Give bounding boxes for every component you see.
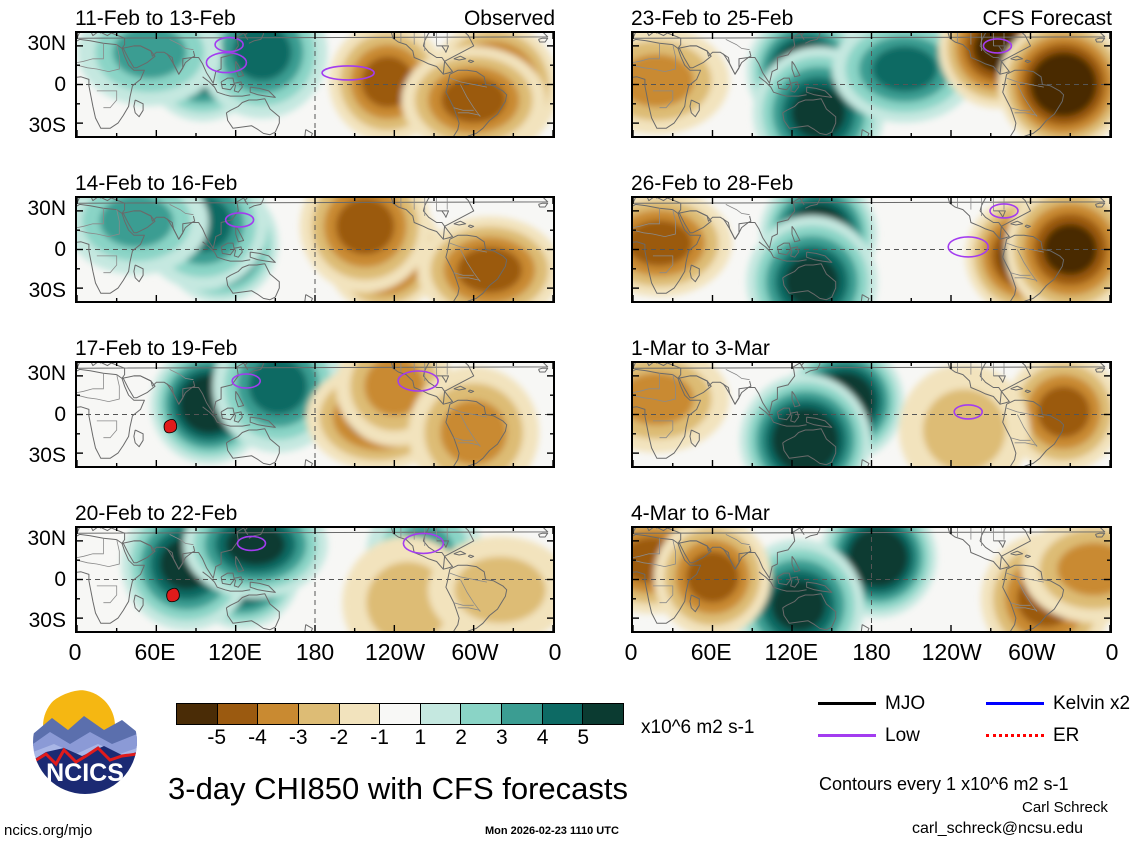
column-tag-cfs-forecast: CFS Forecast	[982, 8, 1112, 29]
legend-label: Low	[885, 726, 920, 745]
colorbar-tick-2: 2	[455, 727, 467, 748]
anomaly-contour-level-6	[855, 536, 900, 579]
x-tick-60e: 60E	[691, 641, 732, 664]
colorbar-bin-6	[421, 704, 462, 724]
low-line-icon	[818, 734, 876, 737]
colorbar-bin-0	[177, 704, 218, 724]
map-svg	[633, 528, 1110, 631]
map-svg	[633, 198, 1110, 301]
y-axis-label-0-row0: 0	[0, 74, 66, 95]
colorbar-tick--1: -1	[370, 727, 389, 748]
page-title: 3-day CHI850 with CFS forecasts	[168, 773, 628, 804]
x-tick-120w: 120W	[922, 641, 982, 664]
legend-label: MJO	[885, 694, 925, 713]
colorbar-tick-4: 4	[537, 727, 549, 748]
y-axis-label-30n-row0: 30N	[0, 33, 66, 54]
panel-5: 26-Feb to 28-Feb	[631, 173, 1112, 303]
map-svg	[77, 363, 553, 466]
y-axis-label-30s-row3: 30S	[0, 610, 66, 631]
x-axis-left: 0 60E 120E 180 120W 60W 0	[75, 641, 555, 669]
legend-item-low[interactable]: Low	[818, 726, 920, 745]
panel-title: 26-Feb to 28-Feb	[631, 173, 793, 194]
colorbar-bin-7	[461, 704, 502, 724]
map-canvas	[633, 363, 1110, 466]
panel-title: 17-Feb to 19-Feb	[75, 338, 237, 359]
map-1[interactable]	[75, 196, 555, 303]
y-axis-label-0-row2: 0	[0, 404, 66, 425]
map-canvas	[633, 33, 1110, 136]
colorbar-bin-2	[258, 704, 299, 724]
anomaly-contour-level-3	[440, 400, 507, 465]
colorbar-bin-3	[299, 704, 340, 724]
timestamp: Mon 2026-02-23 1110 UTC	[485, 826, 619, 837]
map-canvas	[633, 528, 1110, 631]
mjo-line-icon	[818, 702, 876, 705]
y-axis-label-0-row1: 0	[0, 239, 66, 260]
contours-note: Contours every 1 x10^6 m2 s-1	[819, 775, 1069, 793]
map-canvas	[633, 198, 1110, 301]
map-svg	[77, 33, 553, 136]
x-axis-right: 0 60E 120E 180 120W 60W 0	[631, 641, 1112, 669]
y-axis-label-30s-row2: 30S	[0, 445, 66, 466]
y-axis-label-0-row3: 0	[0, 569, 66, 590]
logo-text: NCICS	[46, 759, 124, 787]
map-svg	[633, 33, 1110, 136]
anomaly-contour-level-4	[336, 198, 395, 254]
panel-4: 23-Feb to 25-Feb CFS Forecast	[631, 8, 1112, 138]
x-tick-180: 180	[296, 641, 334, 664]
x-tick-120e: 120E	[208, 641, 262, 664]
ncics-logo[interactable]: NCICS	[24, 686, 146, 798]
legend-label: Kelvin x2	[1053, 694, 1130, 713]
panel-title: 20-Feb to 22-Feb	[75, 503, 237, 524]
panel-title: 14-Feb to 16-Feb	[75, 173, 237, 194]
map-2[interactable]	[75, 361, 555, 468]
colorbar-tick--5: -5	[207, 727, 226, 748]
legend-item-er[interactable]: ER	[986, 726, 1079, 745]
map-svg	[77, 528, 553, 631]
x-tick-360: 0	[1106, 641, 1119, 664]
x-tick-0: 0	[69, 641, 82, 664]
colorbar-units-label: x10^6 m2 s-1	[641, 718, 754, 737]
panel-title: 1-Mar to 3-Mar	[631, 338, 770, 359]
map-5[interactable]	[631, 196, 1112, 303]
legend-label: ER	[1053, 726, 1079, 745]
x-tick-0: 0	[625, 641, 638, 664]
colorbar-strip	[176, 703, 624, 725]
colorbar-tick--4: -4	[248, 727, 267, 748]
x-tick-120w: 120W	[365, 641, 425, 664]
panel-title: 4-Mar to 6-Mar	[631, 503, 770, 524]
author-email: carl_schreck@ncsu.edu	[912, 821, 1083, 837]
panel-1: 14-Feb to 16-Feb	[75, 173, 555, 303]
map-canvas	[77, 33, 553, 136]
author-name: Carl Schreck	[1022, 800, 1108, 815]
y-axis-label-30n-row2: 30N	[0, 363, 66, 384]
map-canvas	[77, 198, 553, 301]
panel-7: 4-Mar to 6-Mar	[631, 503, 1112, 633]
y-axis-label-30n-row3: 30N	[0, 528, 66, 549]
anomaly-contour-level-6	[1038, 61, 1089, 109]
map-7[interactable]	[631, 526, 1112, 633]
anomaly-contour-level-2	[454, 557, 545, 623]
anomaly-contour-level-4	[1037, 386, 1090, 437]
panel-6: 1-Mar to 3-Mar	[631, 338, 1112, 468]
legend-item-mjo[interactable]: MJO	[818, 694, 925, 713]
map-svg	[633, 363, 1110, 466]
map-canvas	[77, 528, 553, 631]
y-axis-label-30s-row0: 30S	[0, 115, 66, 136]
x-tick-60w: 60W	[451, 641, 498, 664]
colorbar-bin-4	[340, 704, 381, 724]
anomaly-contour-level-5	[772, 580, 826, 631]
y-axis-label-30s-row1: 30S	[0, 280, 66, 301]
panel-title: 23-Feb to 25-Feb	[631, 8, 793, 29]
colorbar-tick-3: 3	[496, 727, 508, 748]
colorbar-bin-8	[502, 704, 543, 724]
kelvin-line-icon	[986, 702, 1044, 705]
colorbar-tick-5: 5	[577, 727, 589, 748]
colorbar-tick--2: -2	[330, 727, 349, 748]
colorbar-tick-labels: -5-4-3-2-112345	[176, 727, 624, 751]
x-tick-60w: 60W	[1008, 641, 1055, 664]
legend-item-kelvin[interactable]: Kelvin x2	[986, 694, 1130, 713]
map-4[interactable]	[631, 31, 1112, 138]
colorbar-tick-1: 1	[415, 727, 427, 748]
x-tick-120e: 120E	[764, 641, 818, 664]
map-3[interactable]	[75, 526, 555, 633]
er-contour	[164, 419, 177, 433]
map-0[interactable]	[75, 31, 555, 138]
panel-title: 11-Feb to 13-Feb	[75, 8, 236, 29]
y-axis-label-30n-row1: 30N	[0, 198, 66, 219]
er-contour	[167, 588, 180, 602]
colorbar-bin-5	[380, 704, 421, 724]
anomaly-contour-level-4	[441, 77, 506, 123]
map-canvas	[77, 363, 553, 466]
colorbar[interactable]: -5-4-3-2-112345	[176, 703, 624, 753]
column-tag-observed: Observed	[464, 8, 555, 29]
panel-0: 11-Feb to 13-Feb Observed	[75, 8, 555, 138]
anomaly-contour-level-4	[872, 46, 937, 92]
er-line-icon	[986, 734, 1044, 737]
colorbar-bin-9	[543, 704, 584, 724]
map-svg	[77, 198, 553, 301]
x-tick-360: 0	[549, 641, 562, 664]
site-url[interactable]: ncics.org/mjo	[4, 823, 92, 838]
colorbar-bin-10	[583, 704, 623, 724]
anomaly-field	[151, 363, 539, 466]
contour-legend: MJO Kelvin x2 Low ER	[818, 694, 1135, 750]
map-6[interactable]	[631, 361, 1112, 468]
colorbar-tick--3: -3	[289, 727, 308, 748]
panel-3: 20-Feb to 22-Feb	[75, 503, 555, 633]
panel-2: 17-Feb to 19-Feb	[75, 338, 555, 468]
colorbar-bin-1	[218, 704, 259, 724]
x-tick-60e: 60E	[135, 641, 176, 664]
x-tick-180: 180	[852, 641, 890, 664]
